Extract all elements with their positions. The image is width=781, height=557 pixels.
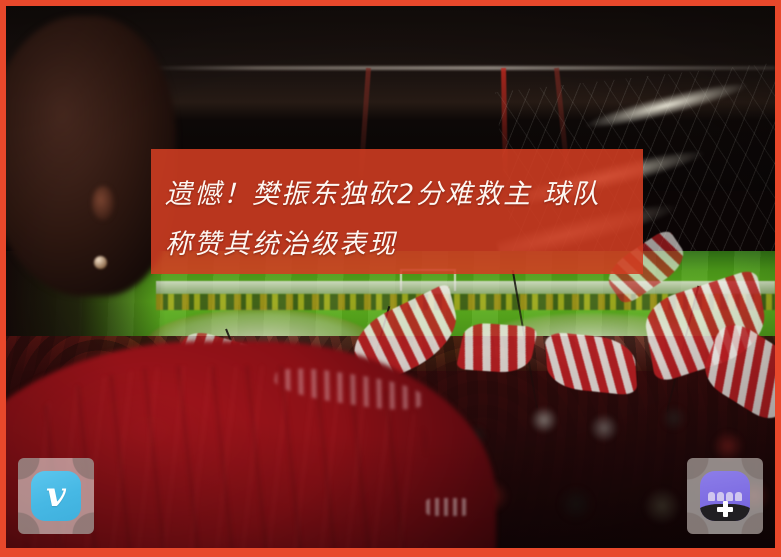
headline-line-1: 遗憾！樊振东独砍2分难救主 球队	[165, 170, 629, 220]
image-frame: 遗憾！樊振东独砍2分难救主 球队 称赞其统治级表现 v	[0, 0, 781, 557]
vimeo-app-icon[interactable]: v	[18, 458, 94, 534]
purple-tile	[700, 471, 750, 521]
headline-line-2: 称赞其统治级表现	[165, 220, 629, 270]
plus-icon	[717, 501, 733, 517]
vimeo-tile: v	[31, 471, 81, 521]
purple-app-icon[interactable]	[687, 458, 763, 534]
foreground-spectator-ear	[92, 186, 114, 220]
purple-dots	[700, 492, 750, 501]
jacket-text-sul	[426, 498, 470, 516]
headline-banner: 遗憾！樊振东独砍2分难救主 球队 称赞其统治级表现	[151, 149, 643, 274]
foreground-spectator-earring	[94, 256, 107, 269]
stadium-photo	[6, 6, 775, 548]
vimeo-v-glyph: v	[46, 478, 66, 512]
